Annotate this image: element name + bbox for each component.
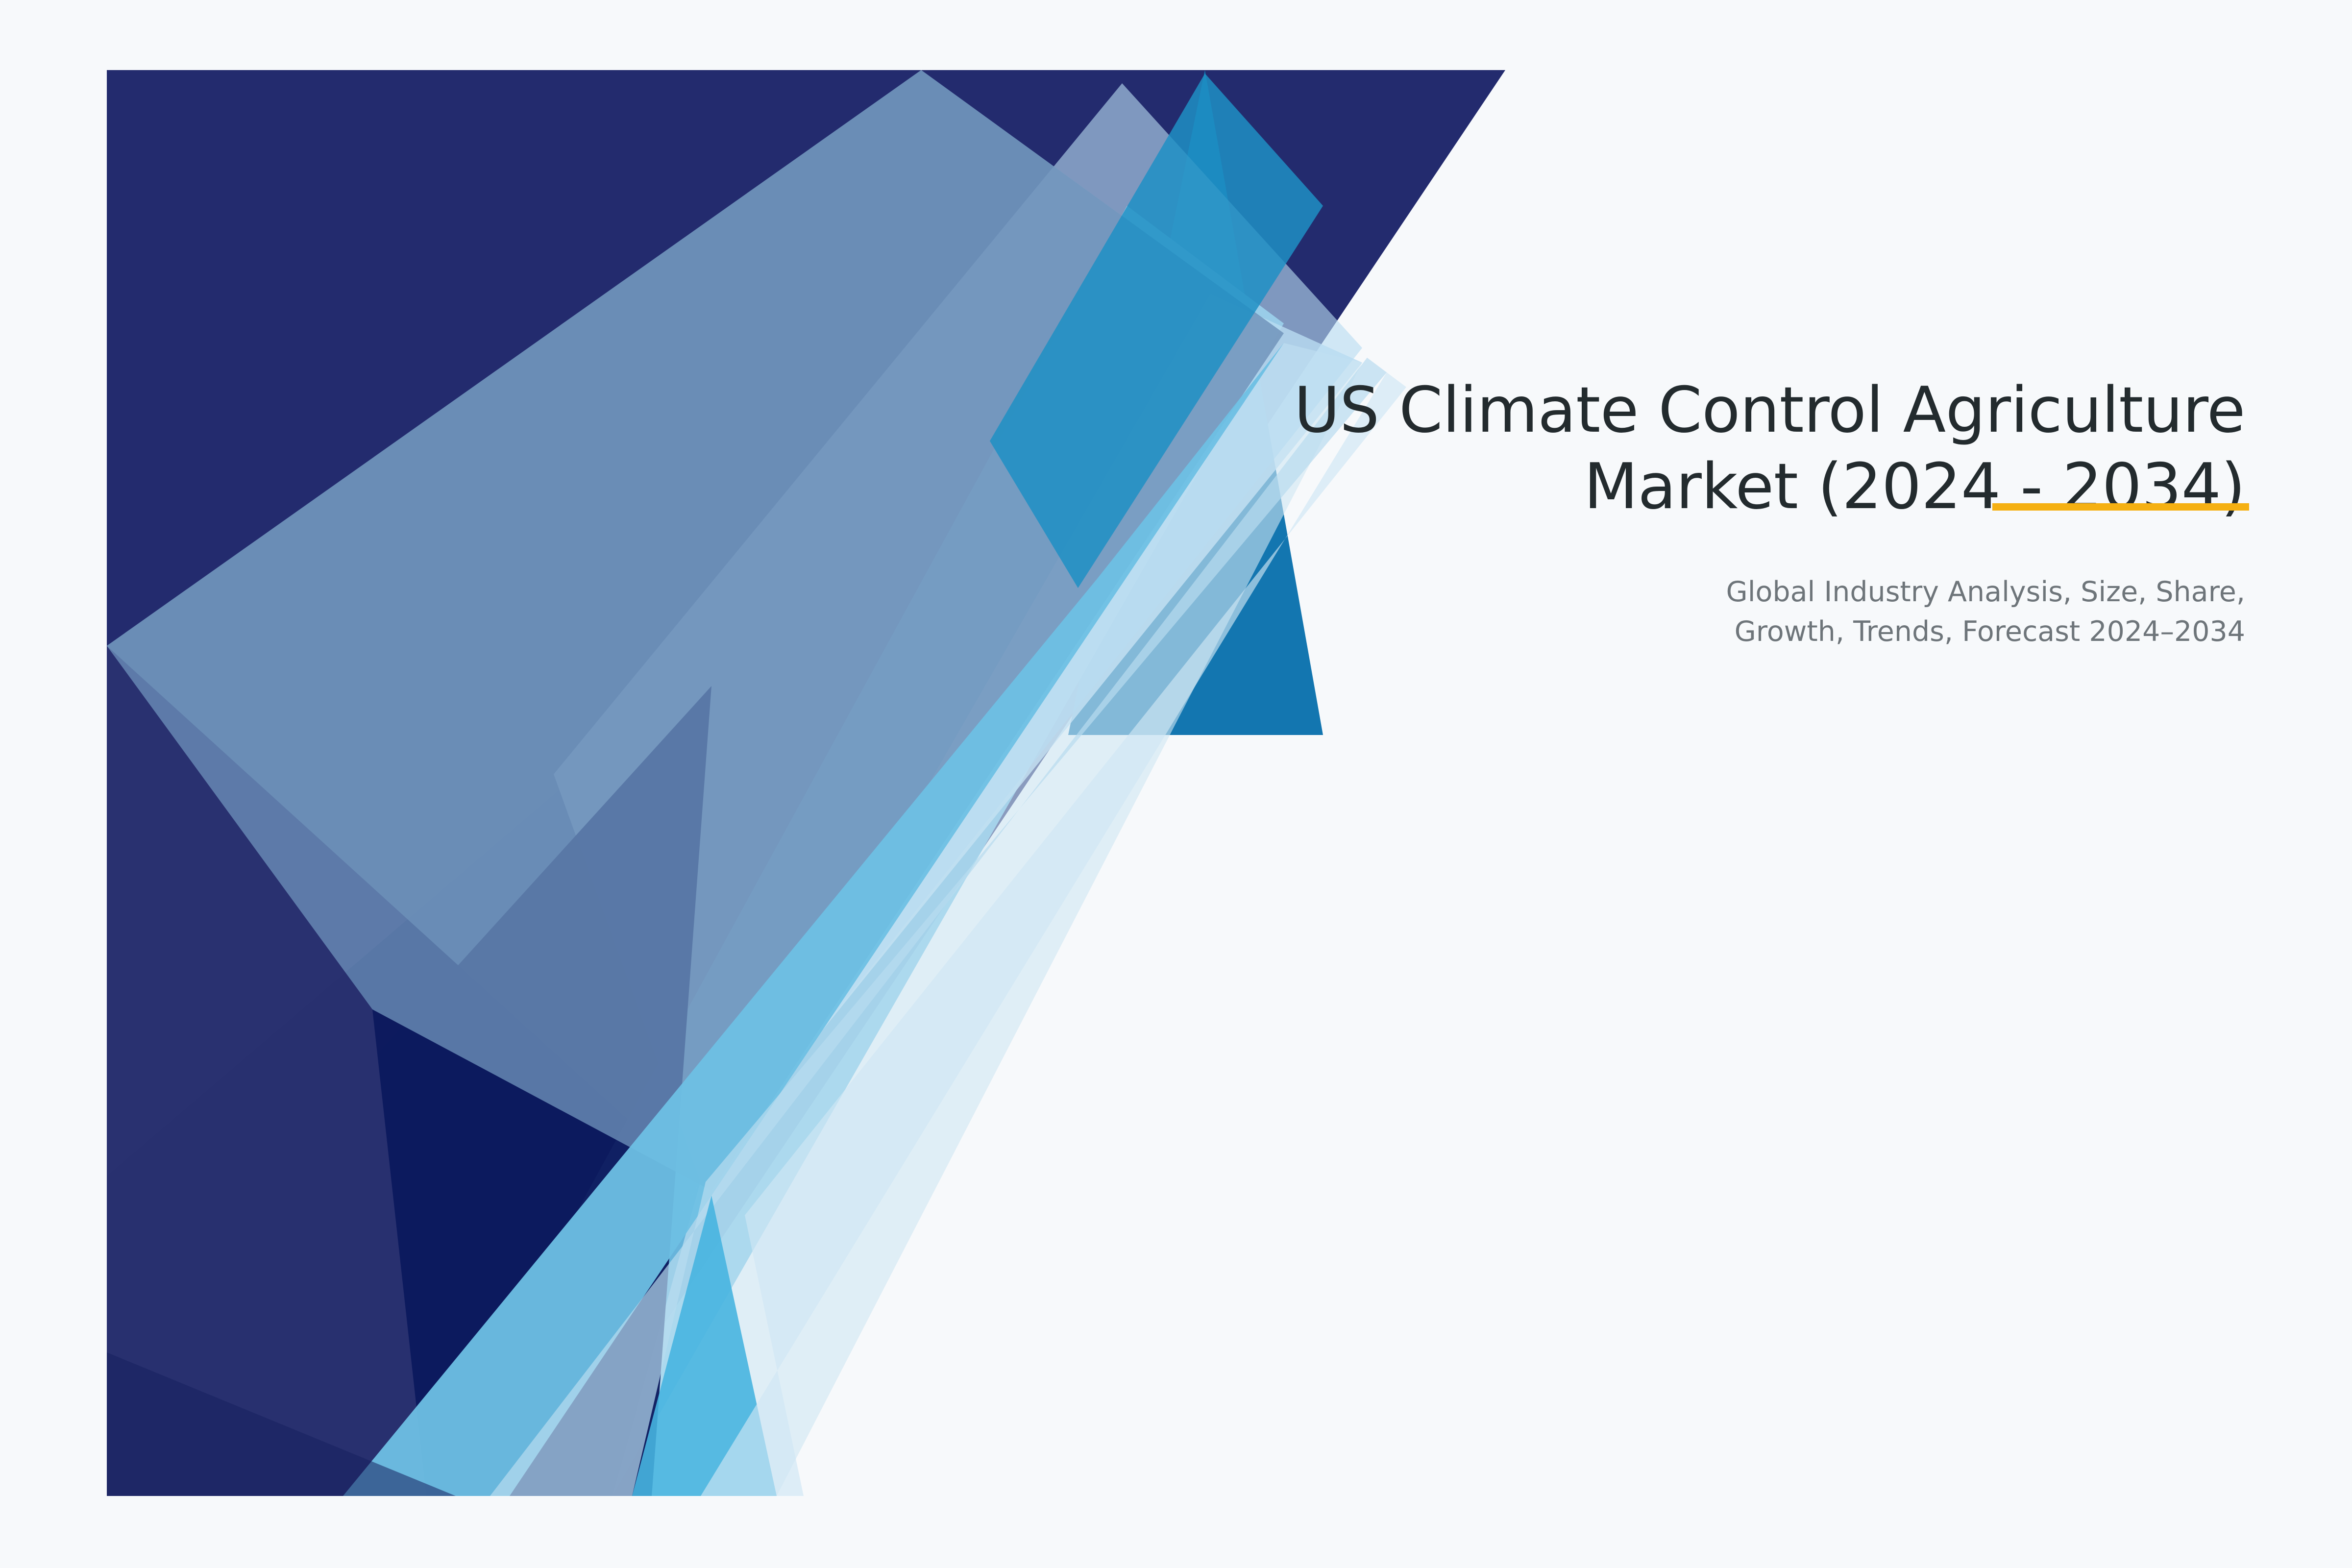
page-title: US Climate Control Agriculture Market (2… (1059, 372, 2245, 525)
hero-artwork (0, 0, 2352, 1568)
hero-text-block: US Climate Control Agriculture Market (2… (1059, 372, 2245, 652)
page-subtitle: Global Industry Analysis, Size, Share, G… (1059, 525, 2245, 652)
title-wrapper: US Climate Control Agriculture Market (2… (1059, 372, 2245, 525)
title-underline-accent (1992, 503, 2249, 511)
cover-page: US Climate Control Agriculture Market (2… (0, 0, 2352, 1568)
